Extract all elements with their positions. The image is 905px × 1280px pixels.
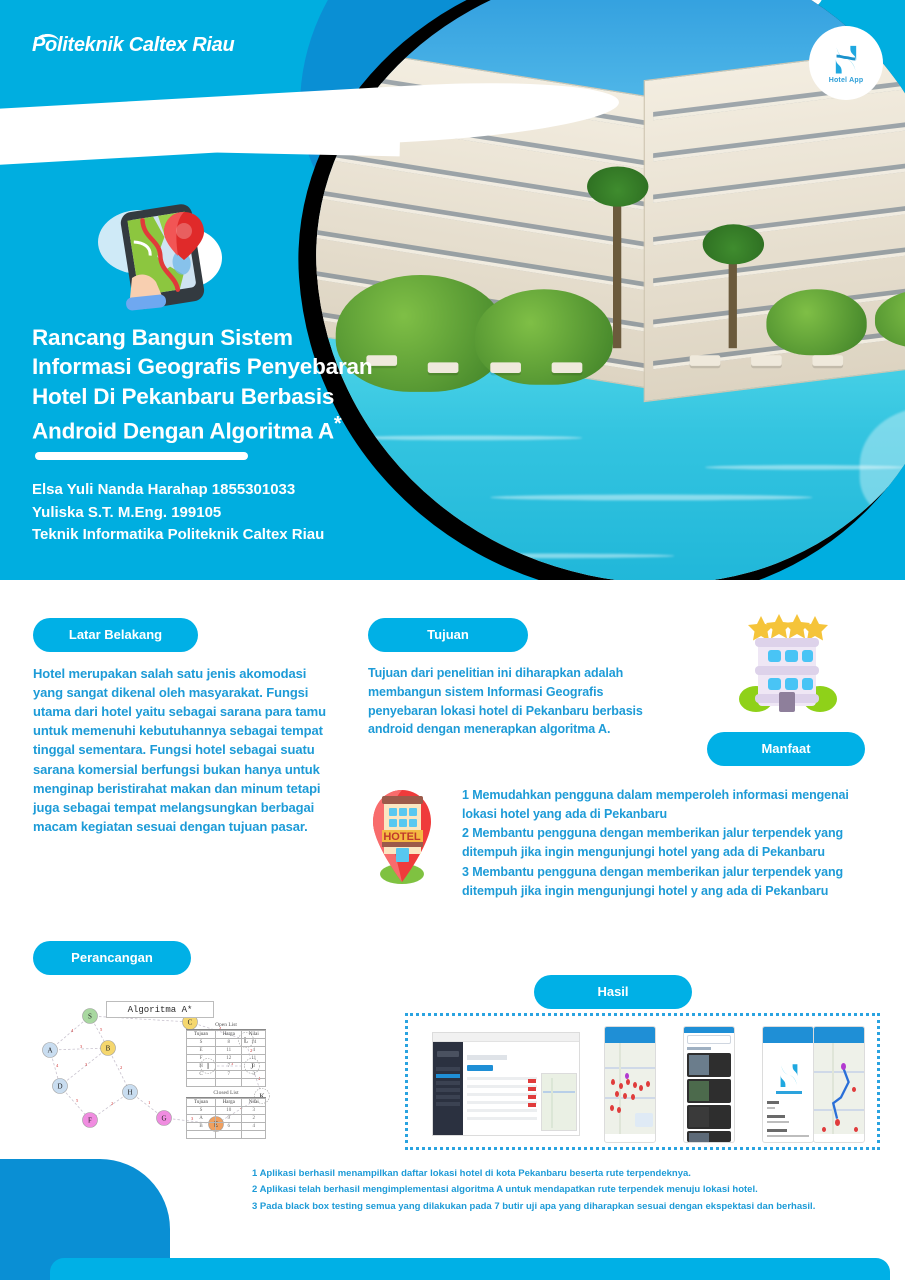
table-cell: 2 [242, 1115, 266, 1123]
table-cell: 3 [242, 1107, 266, 1115]
manfaat-list: 1 Memudahkan pengguna dalam memperoleh i… [462, 786, 882, 901]
graph-edge [50, 1048, 108, 1050]
table-cell: 7 [216, 1063, 242, 1071]
table-row-empty [187, 1131, 266, 1139]
closed-list-col-0: Tujuan [187, 1099, 216, 1107]
pill-hasil: Hasil [534, 975, 692, 1009]
hand-holding-phone-map-pin-icon [88, 192, 230, 318]
closed-list-col-2: Nilai [242, 1099, 266, 1107]
mobile-route-map-screenshot [813, 1026, 865, 1143]
pill-latar-belakang: Latar Belakang [33, 618, 198, 652]
closed-list-table: Closed List Tujuan Harga Nilai S103A92B6… [186, 1090, 266, 1139]
graph-node-label-f: F [88, 1117, 92, 1125]
table-cell: 4 [242, 1047, 266, 1055]
title-divider-rule [35, 452, 248, 460]
graph-edge-weight: 2 [111, 1101, 113, 1106]
graph-edge-weight: 4 [56, 1063, 59, 1068]
author-department: Teknik Informatika Politeknik Caltex Ria… [32, 524, 324, 547]
table-cell: 7 [216, 1071, 242, 1079]
graph-node-label-b: B [106, 1045, 111, 1053]
table-cell: 8 [216, 1039, 242, 1047]
graph-edge-weight: 2 [120, 1065, 122, 1070]
table-row: A92 [187, 1115, 266, 1123]
table-row: C73 [187, 1071, 266, 1079]
table-cell [242, 1079, 266, 1087]
table-cell: B [187, 1123, 216, 1131]
kesimpulan-item-1: 1 Aplikasi berhasil menampilkan daftar l… [252, 1166, 892, 1182]
table-row: F1211 [187, 1055, 266, 1063]
table-cell: 9 [216, 1115, 242, 1123]
mobile-hotel-list-screenshot [683, 1026, 735, 1143]
table-cell: 4 [242, 1123, 266, 1131]
table-cell: S [187, 1039, 216, 1047]
open-list-col-0: Tujuan [187, 1031, 216, 1039]
table-cell [187, 1079, 216, 1087]
footer-blue-bar [50, 1258, 890, 1280]
closed-list-col-1: Harga [216, 1099, 242, 1107]
pill-tujuan: Tujuan [368, 618, 528, 652]
latar-belakang-body: Hotel merupakan salah satu jenis akomoda… [33, 664, 333, 836]
graph-edge-weight: 5 [76, 1098, 79, 1103]
four-star-hotel-building-icon [737, 610, 837, 718]
graph-node-label-s: S [88, 1013, 92, 1021]
institution-wordmark: Politeknik Caltex Riau [32, 34, 234, 57]
poster-header: Politeknik Caltex Riau Hotel App [0, 0, 905, 580]
section-latar-belakang: Latar Belakang Hotel merupakan salah sat… [33, 618, 333, 836]
hotel-map-pin-icon: HOTEL [365, 786, 439, 886]
a-star-graph-diagram: SCABLIJDHKFGE 10453432423452132 [30, 998, 310, 1148]
pill-perancangan: Perancangan [33, 941, 191, 975]
table-cell: 12 [216, 1055, 242, 1063]
hasil-screenshot-gallery [405, 1013, 880, 1150]
table-cell: 11 [216, 1047, 242, 1055]
open-list-col-1: Harga [216, 1031, 242, 1039]
table-cell [187, 1131, 216, 1139]
title-line-4-text: Android Dengan Algoritma A [32, 418, 334, 443]
hotel-app-logo-caption: Hotel App [829, 77, 864, 84]
table-row: S814 [187, 1039, 266, 1047]
hotel-app-logo: Hotel App [809, 26, 883, 100]
table-cell: A [187, 1115, 216, 1123]
open-list-col-2: Nilai [242, 1031, 266, 1039]
title-superscript: * [334, 413, 342, 435]
table-cell: H [187, 1063, 216, 1071]
graph-node-label-g: G [161, 1115, 166, 1123]
tujuan-body: Tujuan dari penelitian ini diharapkan ad… [368, 664, 658, 739]
poster-canvas: Politeknik Caltex Riau Hotel App [0, 0, 905, 1280]
mobile-map-hotel-markers-screenshot [604, 1026, 656, 1143]
closed-list-title: Closed List [186, 1090, 266, 1098]
author-supervisor: Yuliska S.T. M.Eng. 199105 [32, 502, 324, 525]
table-row: B64 [187, 1123, 266, 1131]
graph-edge-weight: 1 [148, 1100, 150, 1105]
title-line-1: Rancang Bangun Sistem [32, 323, 452, 352]
table-row-empty [187, 1079, 266, 1087]
graph-edge-weight: 3 [85, 1062, 88, 1067]
graph-edge [50, 1016, 90, 1050]
graph-edge-weight: 4 [71, 1028, 74, 1033]
manfaat-item-2: 2 Membantu pengguna dengan memberikan ja… [462, 824, 882, 862]
title-line-2: Informasi Geografis Penyebaran [32, 352, 452, 381]
mobile-about-hotel-app-screenshot [762, 1026, 814, 1143]
title-line-4: Android Dengan Algoritma A* [32, 411, 452, 446]
kesimpulan-list: 1 Aplikasi berhasil menampilkan daftar l… [252, 1166, 892, 1215]
graph-node-label-d: D [57, 1083, 62, 1091]
graph-edge [60, 1048, 108, 1086]
section-tujuan: Tujuan Tujuan dari penelitian ini dihara… [368, 618, 668, 739]
table-cell [242, 1131, 266, 1139]
table-cell: F [187, 1055, 216, 1063]
manfaat-item-1: 1 Memudahkan pengguna dalam memperoleh i… [462, 786, 882, 824]
table-cell: 3 [242, 1063, 266, 1071]
table-cell: 14 [242, 1039, 266, 1047]
table-row: E114 [187, 1047, 266, 1055]
algoritma-a-star-label: Algoritma A* [106, 1001, 214, 1018]
table-cell: S [187, 1107, 216, 1115]
garden-foliage [767, 290, 867, 356]
admin-dashboard-hotel-list-screenshot [432, 1032, 580, 1136]
table-cell: E [187, 1047, 216, 1055]
table-cell: C [187, 1071, 216, 1079]
graph-node-label-a: A [47, 1047, 52, 1055]
manfaat-item-3: 3 Membantu pengguna dengan memberikan ja… [462, 863, 882, 901]
table-row: S103 [187, 1107, 266, 1115]
table-cell: 6 [216, 1123, 242, 1131]
open-list-table: Open List Tujuan Harga Nilai S814E114F12… [186, 1022, 266, 1087]
table-cell: 3 [242, 1071, 266, 1079]
table-cell [216, 1131, 242, 1139]
table-cell [216, 1079, 242, 1087]
title-line-3: Hotel Di Pekanbaru Berbasis [32, 382, 452, 411]
graph-edge-weight: 3 [80, 1044, 83, 1049]
closed-list-header-row: Tujuan Harga Nilai [187, 1099, 266, 1107]
kesimpulan-item-3: 3 Pada black box testing semua yang dila… [252, 1199, 892, 1215]
graph-node-label-h: H [127, 1089, 132, 1097]
svg-text:HOTEL: HOTEL [383, 831, 421, 843]
open-list-title: Open List [186, 1022, 266, 1030]
poster-title: Rancang Bangun Sistem Informasi Geografi… [32, 323, 452, 446]
kesimpulan-item-2: 2 Aplikasi telah berhasil mengimplementa… [252, 1182, 892, 1198]
table-cell: 11 [242, 1055, 266, 1063]
graph-edge-weight: 5 [100, 1027, 103, 1032]
open-list-header-row: Tujuan Harga Nilai [187, 1031, 266, 1039]
pill-manfaat: Manfaat [707, 732, 865, 766]
palm-tree [728, 246, 736, 348]
hotel-app-logo-icon [831, 43, 861, 75]
table-cell: 10 [216, 1107, 242, 1115]
palm-tree [613, 187, 621, 348]
author-block: Elsa Yuli Nanda Harahap 1855301033 Yulis… [32, 479, 324, 547]
author-student: Elsa Yuli Nanda Harahap 1855301033 [32, 479, 324, 502]
table-row: H73 [187, 1063, 266, 1071]
